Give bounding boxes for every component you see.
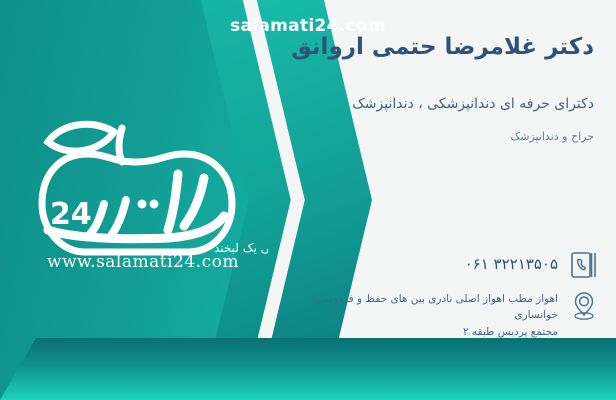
footer-website[interactable]: salamati24.com	[0, 16, 616, 36]
address-line-2: مجتمع پردیس طبقه ۲	[463, 326, 558, 338]
doctor-subtitle: جراح و دندانپزشک	[174, 130, 594, 143]
address-line-1: اهواز مطب اهواز اصلی نادری بین های حفظ و…	[312, 293, 558, 321]
doctor-name: دکتر غلامرضا حتمی اروانق	[174, 34, 594, 60]
footer-bar	[0, 338, 616, 400]
business-card: 24 براحتی یک لبخند www.salamati24.com دک…	[0, 0, 616, 400]
logo-number-24: 24	[50, 197, 92, 232]
phonebook-icon	[570, 250, 598, 280]
location-pin-icon	[570, 290, 598, 320]
phone-row: ۳۲۲۱۳۵۰۵ ۰۶۱	[465, 250, 598, 280]
doctor-specialty: دکترای حرفه ای دندانپزشکی ، دندانپزشک	[174, 96, 594, 112]
phone-number[interactable]: ۳۲۲۱۳۵۰۵ ۰۶۱	[465, 250, 558, 273]
address-row: اهواز مطب اهواز اصلی نادری بین های حفظ و…	[308, 290, 598, 340]
address-text: اهواز مطب اهواز اصلی نادری بین های حفظ و…	[308, 290, 558, 340]
logo-website-url[interactable]: www.salamati24.com	[18, 252, 268, 272]
